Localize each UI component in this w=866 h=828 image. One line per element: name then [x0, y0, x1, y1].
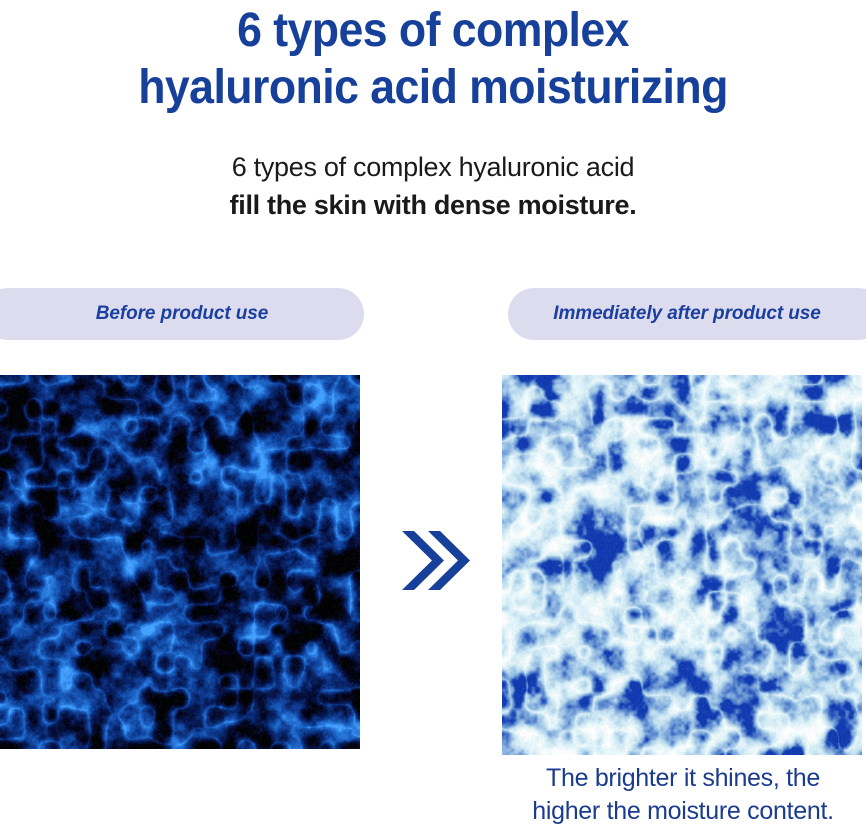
double-chevron-right-icon: [398, 525, 470, 597]
promo-page: 6 types of complex hyaluronic acid moist…: [0, 0, 866, 827]
subheading-line-2: fill the skin with dense moisture.: [0, 186, 866, 224]
headline-line-2: hyaluronic acid moisturizing: [30, 59, 835, 116]
microscopy-canvas-after: [502, 375, 862, 755]
page-title: 6 types of complex hyaluronic acid moist…: [30, 0, 835, 116]
microscopy-image-after: [502, 375, 862, 755]
label-pill-before-text: Before product use: [78, 303, 268, 325]
label-pill-after: Immediately after product use: [508, 288, 866, 340]
headline-line-1: 6 types of complex: [30, 2, 835, 59]
microscopy-canvas-before: [0, 375, 360, 749]
caption-line-1: The brighter it shines, the: [500, 762, 866, 795]
subheading-line-1: 6 types of complex hyaluronic acid: [0, 148, 866, 186]
label-pill-after-text: Immediately after product use: [553, 303, 838, 325]
subheading: 6 types of complex hyaluronic acid fill …: [0, 148, 866, 224]
caption-line-2: higher the moisture content.: [500, 795, 866, 828]
microscopy-image-before: [0, 375, 360, 749]
label-pill-before: Before product use: [0, 288, 364, 340]
result-caption: The brighter it shines, the higher the m…: [500, 762, 866, 828]
